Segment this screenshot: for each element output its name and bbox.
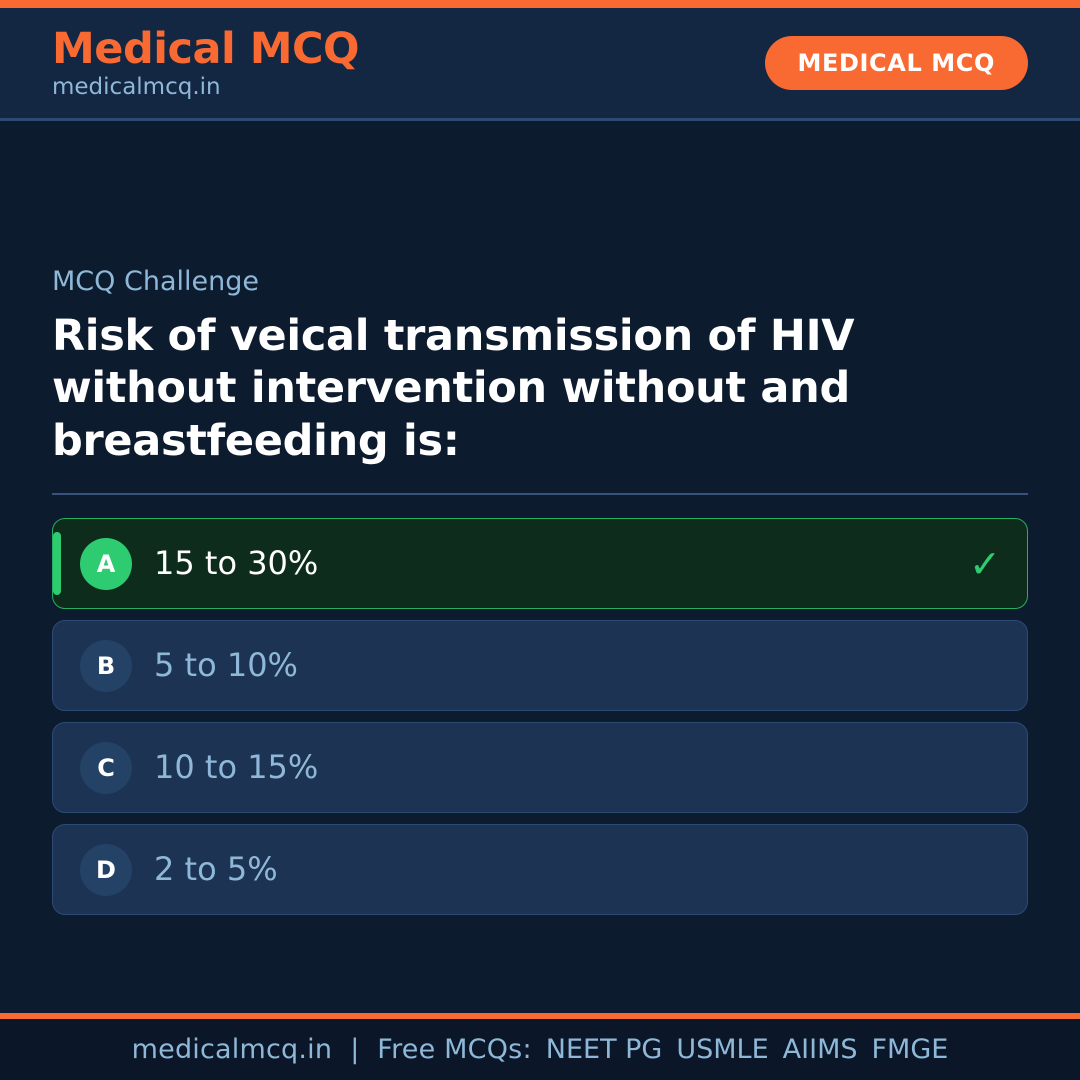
footer-exam-neet-pg: NEET PG	[532, 1034, 663, 1065]
brand-title: Medical MCQ	[52, 28, 359, 71]
correct-accent-bar	[53, 532, 61, 595]
footer-exam-usmle: USMLE	[662, 1034, 768, 1065]
option-a[interactable]: A 15 to 30% ✓	[52, 518, 1028, 609]
brand-block: Medical MCQ medicalmcq.in	[52, 28, 359, 99]
option-a-badge: A	[80, 538, 132, 590]
footer-separator: |	[332, 1034, 377, 1065]
option-a-text: 15 to 30%	[154, 546, 969, 581]
divider	[52, 493, 1028, 495]
options-list: A 15 to 30% ✓ B 5 to 10% ✓ C 10 to 15% ✓…	[52, 518, 1028, 915]
option-b-text: 5 to 10%	[154, 648, 969, 683]
question-text: Risk of veical transmission of HIV witho…	[52, 310, 1028, 467]
header: Medical MCQ medicalmcq.in MEDICAL MCQ	[0, 8, 1080, 121]
mcq-card: Medical MCQ medicalmcq.in MEDICAL MCQ MC…	[0, 0, 1080, 1080]
option-d[interactable]: D 2 to 5% ✓	[52, 824, 1028, 915]
footer: medicalmcq.in | Free MCQs: NEET PG USMLE…	[0, 1019, 1080, 1080]
option-b[interactable]: B 5 to 10% ✓	[52, 620, 1028, 711]
brand-subtitle: medicalmcq.in	[52, 76, 359, 99]
footer-site: medicalmcq.in	[132, 1034, 333, 1065]
footer-label: Free MCQs:	[377, 1034, 531, 1065]
main-content: MCQ Challenge Risk of veical transmissio…	[0, 121, 1080, 1013]
header-badge: MEDICAL MCQ	[765, 36, 1028, 90]
option-c-badge: C	[80, 742, 132, 794]
option-d-badge: D	[80, 844, 132, 896]
option-b-badge: B	[80, 640, 132, 692]
option-d-text: 2 to 5%	[154, 852, 969, 887]
eyebrow-label: MCQ Challenge	[52, 267, 1028, 297]
option-c-text: 10 to 15%	[154, 750, 969, 785]
footer-exam-fmge: FMGE	[858, 1034, 949, 1065]
top-accent-bar	[0, 0, 1080, 8]
footer-exam-aiims: AIIMS	[769, 1034, 858, 1065]
option-c[interactable]: C 10 to 15% ✓	[52, 722, 1028, 813]
check-icon: ✓	[969, 545, 1001, 583]
